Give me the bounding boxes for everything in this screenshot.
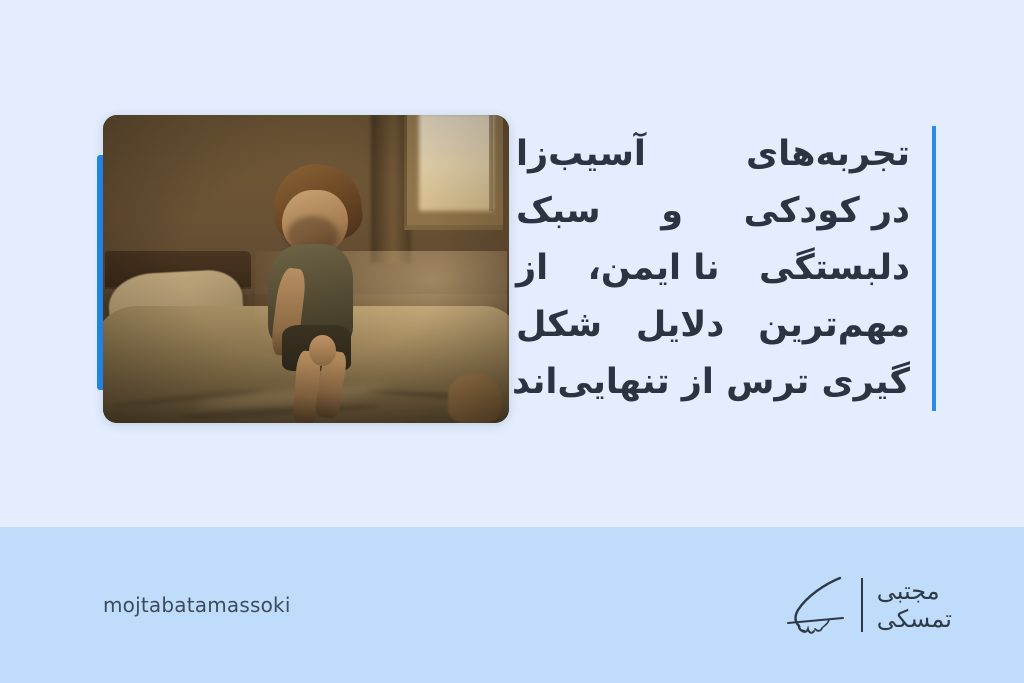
main-content-region: تجربه‌های آسیب‌زا در کودکی و سبک دلبستگی… bbox=[0, 0, 1024, 527]
quote-word: دلایل bbox=[636, 297, 724, 354]
quote-word: نا ایمن، bbox=[588, 240, 720, 297]
window-frame bbox=[404, 115, 503, 230]
quote-word: شکل bbox=[516, 297, 602, 354]
quote-word: تجربه‌های bbox=[746, 126, 910, 183]
quote-block: تجربه‌های آسیب‌زا در کودکی و سبک دلبستگی… bbox=[516, 126, 936, 411]
account-handle[interactable]: mojtabatamassoki bbox=[103, 593, 291, 617]
quote-line-2: در کودکی و سبک bbox=[516, 183, 910, 240]
footer-band: mojtabatamassoki مجتبی تمسکی bbox=[0, 527, 1024, 683]
quote-line-3: دلبستگی نا ایمن، از bbox=[516, 240, 910, 297]
photo-frame bbox=[103, 115, 509, 423]
quote-line-4: مهم‌ترین دلایل شکل bbox=[516, 297, 910, 354]
quote-word: آسیب‌زا bbox=[516, 126, 646, 183]
bedroom-photo-image bbox=[103, 115, 509, 423]
quote-word: دلبستگی bbox=[759, 240, 910, 297]
quote-word: از bbox=[516, 240, 548, 297]
child-figure bbox=[265, 164, 387, 423]
brand-last-name: تمسکی bbox=[877, 605, 952, 633]
brand-divider bbox=[861, 578, 863, 632]
calligraphy-signature-icon bbox=[785, 572, 847, 638]
quote-line-5: گیری ترس از تنهایی‌اند. bbox=[516, 354, 910, 411]
brand-logo[interactable]: مجتبی تمسکی bbox=[785, 572, 952, 638]
quote-word: مهم‌ترین bbox=[758, 297, 910, 354]
photo-block bbox=[97, 115, 509, 425]
quote-word: در کودکی bbox=[744, 183, 910, 240]
quote-line-1: تجربه‌های آسیب‌زا bbox=[516, 126, 910, 183]
teddy-bear-icon bbox=[448, 374, 501, 423]
window-mullion bbox=[489, 115, 493, 211]
social-media-card: تجربه‌های آسیب‌زا در کودکی و سبک دلبستگی… bbox=[0, 0, 1024, 683]
quote-word: سبک bbox=[516, 183, 601, 240]
child-hands bbox=[309, 335, 336, 366]
quote-word: و bbox=[661, 183, 683, 240]
brand-name-group: مجتبی تمسکی bbox=[877, 577, 952, 634]
brand-first-name: مجتبی bbox=[877, 577, 940, 605]
window-light-icon bbox=[419, 115, 493, 211]
